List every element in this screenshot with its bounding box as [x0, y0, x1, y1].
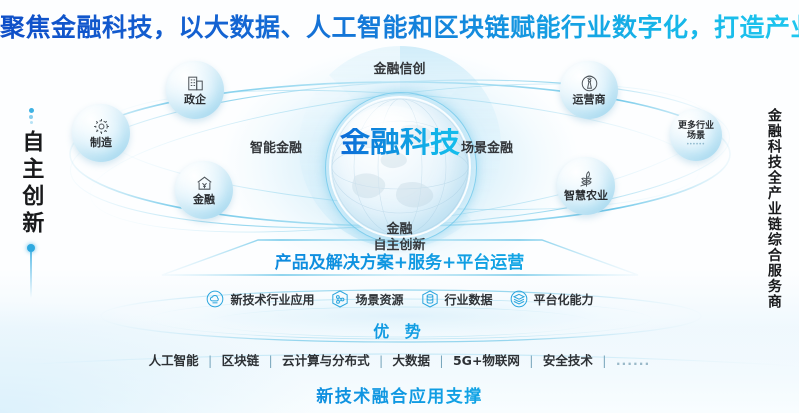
- cloud-icon: [205, 289, 225, 309]
- industry-node-zhizao[interactable]: 制造: [72, 104, 130, 162]
- industry-node-zhengqi[interactable]: 政企: [166, 61, 224, 119]
- technology-title: 新技术融合应用支撑: [0, 382, 799, 407]
- advantage-label: 行业数据: [445, 291, 493, 308]
- core-caption-right: 场景金融: [461, 137, 513, 156]
- advantage-item-scene-resource[interactable]: 场景资源: [330, 289, 403, 309]
- layers-icon: [509, 289, 529, 309]
- separator: |: [602, 353, 606, 368]
- core-caption-bottom-line1: 金融: [0, 222, 799, 238]
- technology-item: 云计算与分布式: [282, 353, 370, 368]
- advantage-item-industry-data[interactable]: 行业数据: [420, 289, 493, 309]
- separator: |: [529, 353, 533, 368]
- industry-node-yunying[interactable]: 运营商: [560, 61, 618, 119]
- industry-node-jinrong[interactable]: 金融: [175, 161, 233, 219]
- gear-icon: [92, 117, 111, 136]
- core-caption-top: 金融信创: [0, 58, 799, 77]
- technology-more: ......: [616, 353, 651, 368]
- more-dots-icon: ••••••: [687, 142, 706, 148]
- infographic-canvas: 聚焦金融科技，以大数据、人工智能和区块链赋能行业数字化，打造产业融合新生态 自主…: [0, 0, 799, 413]
- network-nodes-icon: [330, 289, 350, 309]
- antenna-icon: [580, 74, 599, 93]
- technology-item: 大数据: [393, 353, 431, 368]
- advantage-label: 平台化能力: [534, 291, 594, 308]
- technology-item: 5G+物联网: [453, 353, 520, 368]
- database-icon: [420, 289, 440, 309]
- separator: |: [208, 353, 212, 368]
- technology-item: 区块链: [222, 353, 260, 368]
- technology-list: 人工智能 | 区块链 | 云计算与分布式 | 大数据 | 5G+物联网 | 安全…: [0, 350, 799, 369]
- advantages-title: 优 势: [0, 318, 799, 342]
- industry-node-label: 制造: [90, 137, 112, 149]
- advantage-item-new-tech[interactable]: 新技术行业应用: [205, 289, 314, 309]
- industry-node-label: 政企: [184, 94, 206, 106]
- separator: |: [439, 353, 443, 368]
- core-caption-left: 智能金融: [250, 137, 302, 156]
- advantages-row: 新技术行业应用 场景资源 行业数据: [0, 289, 799, 309]
- right-vertical-label-text: 金融科技全产业链综合服务商: [766, 108, 782, 310]
- industry-node-label: 智慧农业: [564, 190, 608, 202]
- dot-stack-icon: [29, 108, 34, 124]
- right-vertical-label: 金融科技全产业链综合服务商: [757, 108, 791, 310]
- technology-item: 安全技术: [543, 353, 593, 368]
- technology-item: 人工智能: [149, 353, 199, 368]
- advantage-label: 新技术行业应用: [230, 291, 314, 308]
- page-title: 聚焦金融科技，以大数据、人工智能和区块链赋能行业数字化，打造产业融合新生态: [0, 8, 799, 44]
- industry-node-label: 更多行业场景: [674, 122, 718, 142]
- products-line: 产品及解决方案+服务+平台运营: [0, 248, 799, 273]
- separator: |: [269, 353, 273, 368]
- advantage-label: 场景资源: [355, 291, 403, 308]
- industry-node-more[interactable]: 更多行业场景 ••••••: [670, 109, 722, 161]
- industry-node-label: 运营商: [573, 94, 606, 106]
- advantage-item-platform-capability[interactable]: 平台化能力: [509, 289, 594, 309]
- wheat-icon: [577, 170, 596, 189]
- industry-node-label: 金融: [193, 194, 215, 206]
- core-label: 金融科技: [331, 128, 469, 158]
- building-icon: [186, 74, 205, 93]
- bank-yuan-icon: [195, 174, 214, 193]
- separator: |: [379, 353, 383, 368]
- industry-node-nongye[interactable]: 智慧农业: [557, 157, 615, 215]
